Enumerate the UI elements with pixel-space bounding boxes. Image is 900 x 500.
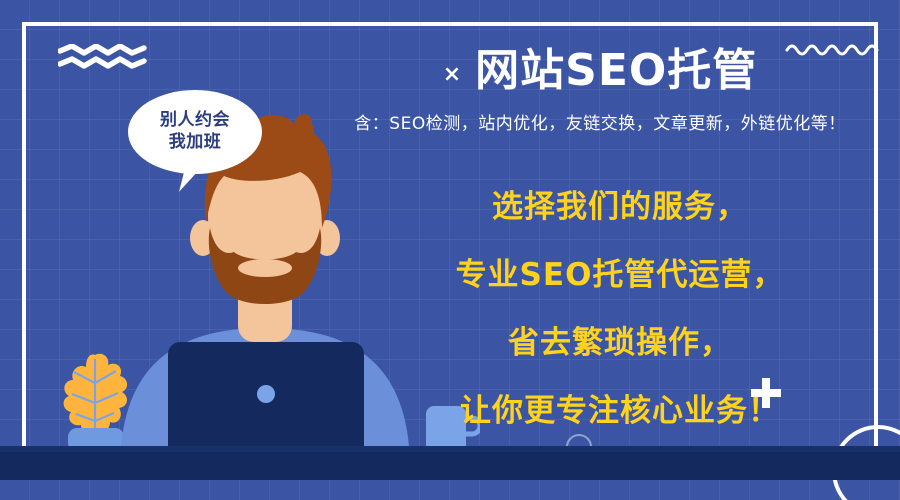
copy-line-4: 让你更专注核心业务！ (400, 396, 840, 427)
close-x-icon: × (443, 64, 461, 86)
seo-promo-banner: 别人约会 我加班 × 网站SEO托管 含：SEO检测，站内优化，友链交换，文章更… (0, 0, 900, 500)
marketing-copy-block: 选择我们的服务， 专业SEO托管代运营， 省去繁琐操作， 让你更专注核心业务！ (400, 192, 840, 427)
speech-bubble: 别人约会 我加班 (128, 90, 262, 174)
desk-surface (0, 452, 900, 480)
speech-bubble-line-2: 我加班 (169, 132, 222, 154)
bearded-man-illustration (0, 0, 420, 474)
copy-line-2: 专业SEO托管代运营， (400, 260, 840, 291)
copy-line-1: 选择我们的服务， (400, 192, 840, 223)
page-title: 网站SEO托管 (475, 46, 757, 97)
copy-line-3: 省去繁琐操作， (400, 328, 840, 359)
speech-bubble-line-1: 别人约会 (160, 110, 230, 132)
